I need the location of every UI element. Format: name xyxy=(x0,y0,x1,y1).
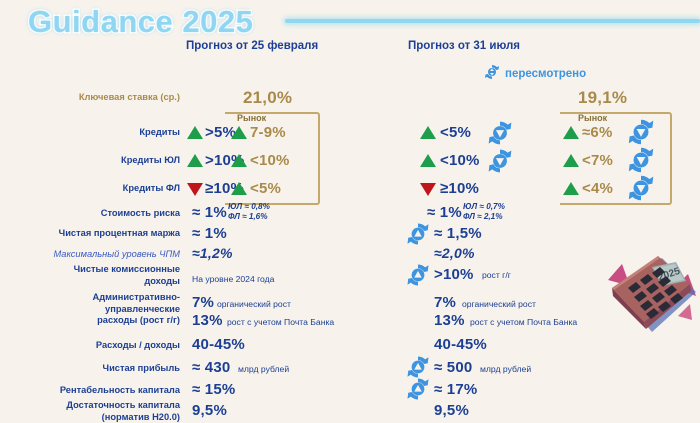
right-market-arrow-up-loans-corporate xyxy=(563,154,579,167)
row-label-cost-of-risk: Стоимость риска xyxy=(0,208,180,220)
revised-legend-label: пересмотрено xyxy=(505,68,586,80)
right-value-fee-income: >10% xyxy=(434,266,474,283)
right-value-opex-total: 13% xyxy=(434,312,465,329)
left-column-header: Прогноз от 25 февраля xyxy=(186,40,318,52)
left-arrow-down-loans-retail xyxy=(187,183,203,196)
row-label-key-rate: Ключевая ставка (ср.) xyxy=(0,92,180,104)
left-note-fee-income: На уровне 2024 года xyxy=(192,274,274,284)
right-value-loans-retail: ≥10% xyxy=(440,180,479,197)
right-note-opex-total: рост с учетом Почта Банка xyxy=(470,317,577,327)
left-note-opex-total: рост с учетом Почта Банка xyxy=(227,317,334,327)
left-market-arrow-up-loans-corporate xyxy=(231,154,247,167)
right-revision-icon-down-loans-corporate xyxy=(487,148,513,174)
right-market-caption: Рынок xyxy=(578,113,607,123)
right-arrow-up-loans-corporate xyxy=(420,154,436,167)
right-note-opex-organic: органический рост xyxy=(462,299,536,309)
left-arrow-up-loans-corporate xyxy=(187,154,203,167)
right-note-net-profit: млрд рублей xyxy=(480,364,531,374)
right-market-revision-icon-down-loans-corporate xyxy=(627,146,655,174)
right-revision-icon-up-roe xyxy=(406,377,430,401)
left-market-value-loans: 7-9% xyxy=(250,124,286,141)
left-subnote-cost-of-risk: ЮЛ ≈ 0,8% ФЛ ≈ 1,6% xyxy=(228,202,270,221)
right-value-roe: ≈ 17% xyxy=(434,381,477,398)
left-note-opex-organic: органический рост xyxy=(217,299,291,309)
right-value-net-profit: ≈ 500 xyxy=(434,359,472,376)
left-market-value-loans-corporate: <10% xyxy=(250,152,290,169)
row-label-loans: Кредиты xyxy=(0,127,180,139)
right-column-header: Прогноз от 31 июля xyxy=(408,40,520,52)
left-value-key-rate: 21,0% xyxy=(243,88,292,108)
left-value-capital-adequacy: 9,5% xyxy=(192,402,227,419)
left-value-nim-max: ≈1,2% xyxy=(192,245,233,261)
left-market-caption: Рынок xyxy=(237,113,266,123)
left-arrow-up-loans xyxy=(187,126,203,139)
row-label-roe: Рентабельность капитала xyxy=(0,385,180,397)
row-label-loans-retail: Кредиты ФЛ xyxy=(0,183,180,195)
left-value-opex-organic: 7% xyxy=(192,294,214,311)
left-value-nim: ≈ 1% xyxy=(192,225,227,242)
right-subnote-cost-of-risk: ЮЛ ≈ 0,7% ФЛ ≈ 2,1% xyxy=(463,202,505,221)
right-value-capital-adequacy: 9,5% xyxy=(434,402,469,419)
page-title: Guidance 2025 xyxy=(28,4,253,40)
right-value-nim-max: ≈2,0% xyxy=(434,245,475,261)
right-arrow-up-loans xyxy=(420,126,436,139)
row-label-net-profit: Чистая прибыль xyxy=(0,363,180,375)
right-value-opex-organic: 7% xyxy=(434,294,456,311)
right-revision-icon-up-nim xyxy=(406,222,430,246)
left-value-cost-of-risk: ≈ 1% xyxy=(192,204,227,221)
right-value-cost-of-risk: ≈ 1% xyxy=(427,204,462,221)
row-label-capital-adequacy: Достаточность капитала (норматив Н20.0) xyxy=(0,400,180,423)
left-value-cir: 40-45% xyxy=(192,336,245,353)
right-value-loans-corporate: <10% xyxy=(440,152,480,169)
left-note-net-profit: млрд рублей xyxy=(238,364,289,374)
left-value-net-profit: ≈ 430 xyxy=(192,359,230,376)
row-label-nim-max: Максимальный уровень ЧПМ xyxy=(0,249,180,261)
revised-legend: пересмотрено xyxy=(484,64,586,83)
right-value-cir: 40-45% xyxy=(434,336,487,353)
left-market-arrow-up-loans-retail xyxy=(231,182,247,195)
right-market-revision-icon-down-loans xyxy=(627,118,655,146)
row-label-cir: Расходы / доходы xyxy=(0,340,180,352)
right-market-revision-icon-down-loans-retail xyxy=(627,174,655,202)
calculator-image: 2025 xyxy=(600,252,698,347)
right-value-nim: ≈ 1,5% xyxy=(434,225,482,242)
right-note-fee-income: рост г/г xyxy=(482,270,511,280)
slide-canvas: Guidance 2025 Guidance 2025 Прогноз от 2… xyxy=(0,0,700,422)
right-revision-icon-up-net-profit xyxy=(406,355,430,379)
right-arrow-down-loans-retail xyxy=(420,183,436,196)
right-revision-icon-up-fee-income xyxy=(406,263,430,287)
left-market-arrow-up-loans xyxy=(231,126,247,139)
row-label-nim: Чистая процентная маржа xyxy=(0,228,180,240)
right-market-value-loans-retail: <4% xyxy=(582,180,613,197)
left-market-value-loans-retail: <5% xyxy=(250,180,281,197)
right-market-arrow-up-loans xyxy=(563,126,579,139)
revision-icon xyxy=(484,64,500,83)
right-value-loans: <5% xyxy=(440,124,471,141)
right-market-value-loans: ≈6% xyxy=(582,124,613,141)
right-value-key-rate: 19,1% xyxy=(578,88,627,108)
left-value-opex-total: 13% xyxy=(192,312,223,329)
row-label-fee-income: Чистые комиссионные доходы xyxy=(0,264,180,287)
right-revision-icon-down-loans xyxy=(487,120,513,146)
right-market-arrow-up-loans-retail xyxy=(563,182,579,195)
row-label-loans-corporate: Кредиты ЮЛ xyxy=(0,155,180,167)
left-value-roe: ≈ 15% xyxy=(192,381,235,398)
row-label-opex: Административно- управленческие расходы … xyxy=(0,292,180,327)
right-market-value-loans-corporate: <7% xyxy=(582,152,613,169)
title-rule xyxy=(285,19,700,23)
